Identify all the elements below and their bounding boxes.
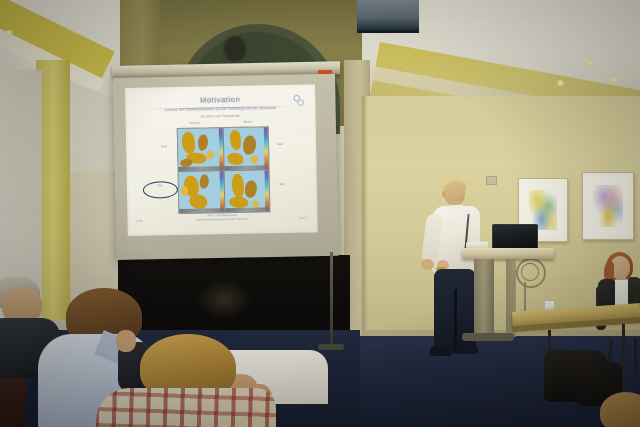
slide-subtitle-line-2: der Arten / der Populationen (127, 112, 313, 120)
column-header-winter: Winter (243, 120, 252, 124)
presenter-shoe (456, 345, 478, 354)
audience-member-plaid-shirt (96, 388, 276, 427)
lectern-top (462, 248, 554, 259)
lectern-column (474, 259, 494, 337)
slide-column-headers: Sommer Winter (168, 119, 274, 125)
painting-mat (587, 177, 629, 235)
row-label-right-north: Nord (270, 143, 290, 147)
chair-leg (634, 338, 637, 376)
screen-stand-foot (318, 344, 344, 350)
figure-panel-bottom-left (179, 171, 224, 213)
lectern-base (462, 333, 514, 341)
screen-stand-leg (330, 252, 333, 348)
presenter-hand (421, 259, 434, 270)
slide-figure-grid (177, 126, 271, 214)
institute-logo (291, 93, 306, 109)
downlight-icon (556, 80, 565, 86)
row-label-right-south: Süd (271, 183, 293, 187)
painting-image (593, 185, 623, 228)
figure-colorbar (219, 171, 224, 213)
watercolor-painting-right (582, 172, 634, 240)
conference-room-photo: Motivation Einfluss der Umweltparameter … (0, 0, 640, 427)
slide-subtitle-line-1: Einfluss der Umweltparameter auf die Ver… (127, 105, 313, 113)
presenter-shoe (430, 347, 452, 356)
slide-annotation-ellipse (143, 181, 178, 199)
row-label-left-north: Nord (154, 145, 174, 149)
slide-footer-left: Quelle (135, 220, 143, 223)
presenter-ear (442, 191, 446, 197)
slide-title: Motivation (127, 93, 313, 106)
slide-page-number: Seite 2 (299, 217, 307, 220)
presenter-collar (447, 204, 465, 213)
upper-window (357, 0, 419, 33)
figure-axis-bar (179, 208, 224, 213)
audience-hand (116, 330, 136, 352)
alcove-fixture (224, 36, 246, 62)
coiled-cable-inner (521, 263, 539, 281)
table-leg (622, 324, 625, 372)
column-header-summer: Sommer (189, 121, 200, 125)
figure-panel-top-right (223, 127, 268, 169)
downlight-icon (585, 60, 596, 67)
figure-panel-bottom-right (224, 170, 269, 212)
slide-footer-center: Abb. 1: Verteilungsmuster Modellierte Ha… (129, 212, 315, 223)
downlight-icon (4, 30, 14, 36)
downlight-icon (608, 76, 619, 83)
presenter-trouser-seam (454, 289, 457, 353)
figure-panel-top-left (178, 128, 223, 170)
recess-glow (196, 280, 252, 320)
right-wall-edge (362, 96, 368, 346)
figure-colorbar (218, 128, 223, 170)
figure-axis-bar (225, 207, 270, 212)
figure-colorbar (264, 127, 269, 169)
projected-slide: Motivation Einfluss der Umweltparameter … (127, 86, 316, 234)
figure-colorbar (265, 170, 270, 212)
